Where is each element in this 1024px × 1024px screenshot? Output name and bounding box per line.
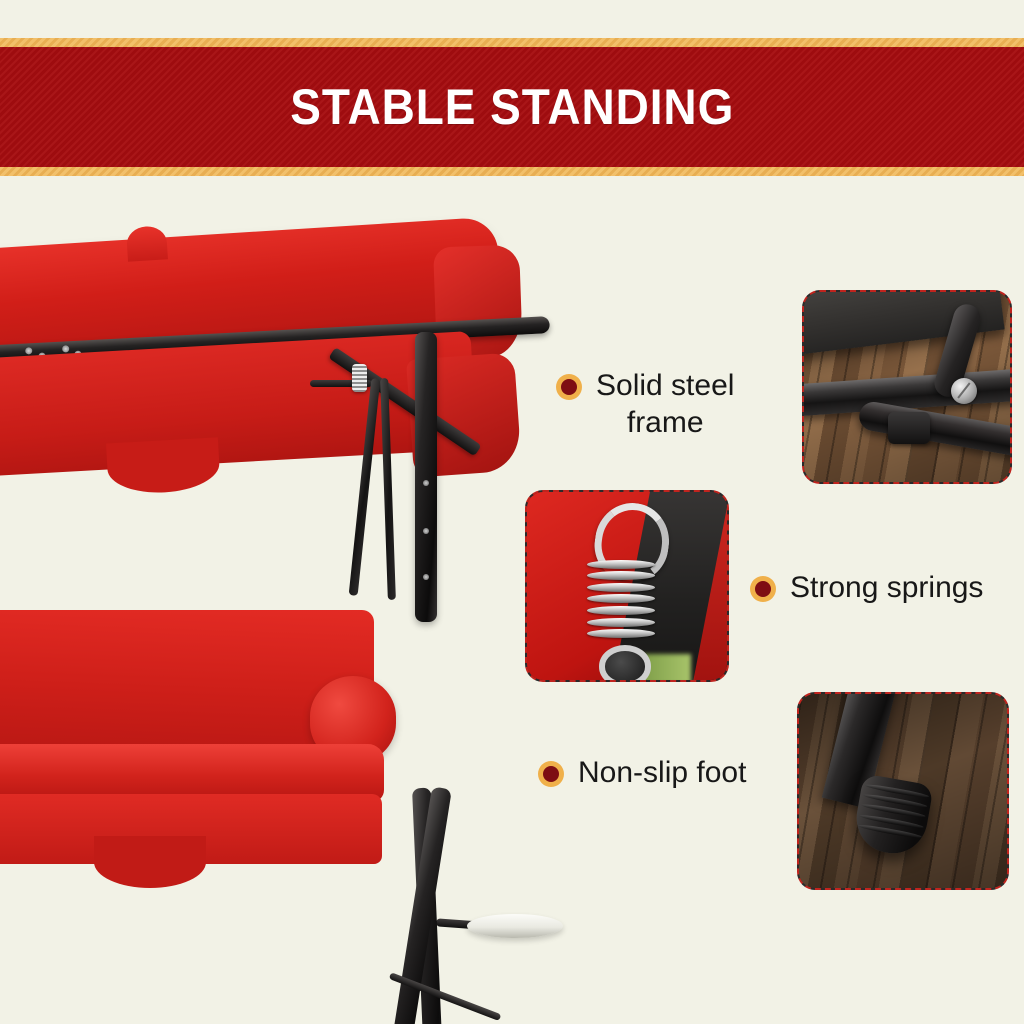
seat-skirt — [0, 794, 382, 864]
callout-non-slip-foot: Non-slip foot — [538, 755, 788, 792]
callout-label: Non-slip foot — [578, 755, 746, 792]
tube-clamp — [888, 412, 929, 444]
banner-body: STABLE STANDING — [0, 47, 1024, 167]
product-photo-swing — [0, 228, 600, 988]
bullet-dot-icon — [750, 576, 776, 602]
inset-non-slip-foot — [797, 692, 1009, 890]
inset-non-slip-foot-photo — [799, 694, 1007, 888]
inset-steel-frame — [802, 290, 1012, 484]
callout-solid-steel-frame: Solid steel frame — [556, 368, 766, 441]
callout-label-line2: frame — [627, 406, 704, 439]
bolt-screw-icon — [951, 378, 977, 404]
bullet-dot-icon — [538, 761, 564, 787]
side-table — [467, 914, 563, 938]
callout-label: Solid steel frame — [596, 368, 734, 441]
inset-spring-photo — [527, 492, 727, 680]
callout-label-line1: Solid steel — [596, 369, 734, 402]
spring-eyelet — [599, 645, 651, 682]
inset-spring — [525, 490, 729, 682]
callout-label: Strong springs — [790, 570, 983, 607]
callout-strong-springs: Strong springs — [750, 570, 1010, 607]
header-banner: STABLE STANDING — [0, 38, 1024, 176]
inset-steel-frame-photo — [804, 292, 1010, 482]
banner-stripe-top — [0, 38, 1024, 47]
support-post — [415, 332, 437, 622]
bullet-dot-icon — [556, 374, 582, 400]
infographic-page: STABLE STANDING — [0, 0, 1024, 1024]
page-title: STABLE STANDING — [290, 82, 734, 132]
spring-coil — [587, 560, 655, 643]
banner-stripe-bottom — [0, 167, 1024, 176]
hanger-spring — [352, 364, 367, 392]
